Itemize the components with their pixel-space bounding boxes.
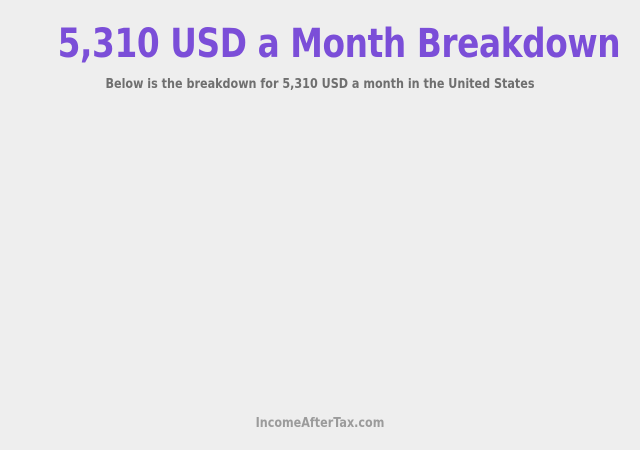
site-watermark: IncomeAfterTax.com [45, 416, 595, 432]
page-header: 5,310 USD a Month Breakdown Below is the… [0, 0, 640, 93]
page-subtitle: Below is the breakdown for 5,310 USD a m… [45, 66, 595, 93]
page-footer: IncomeAfterTax.com [0, 416, 640, 450]
breakdown-page: 5,310 USD a Month Breakdown Below is the… [0, 0, 640, 450]
page-title: 5,310 USD a Month Breakdown [58, 22, 583, 66]
breakdown-content-area [0, 93, 640, 416]
